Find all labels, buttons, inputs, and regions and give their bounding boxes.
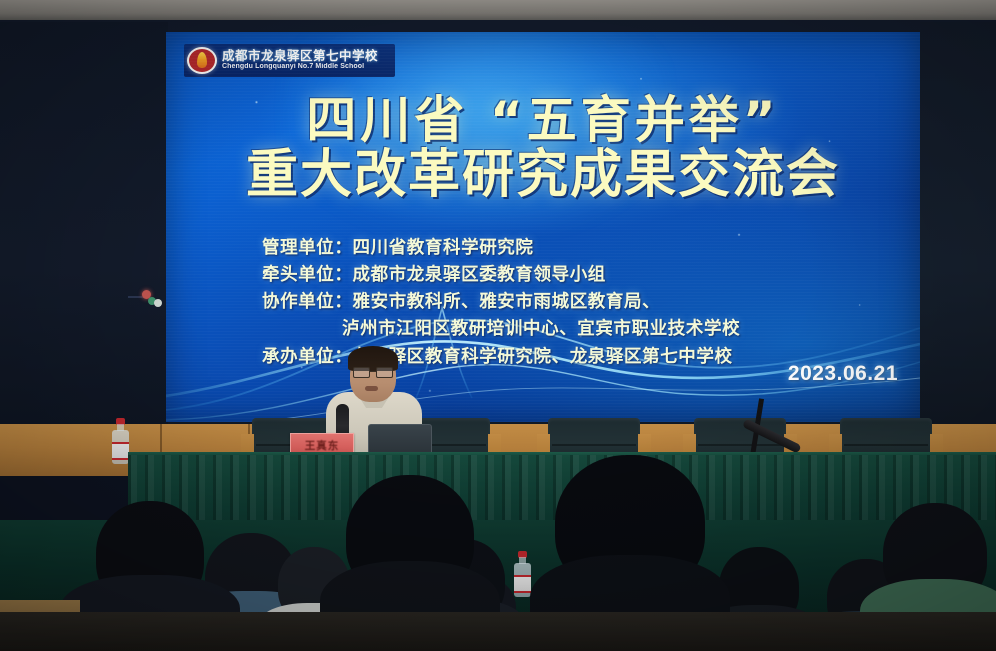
event-date: 2023.06.21 — [788, 362, 898, 386]
sconce-bulb-white — [154, 299, 162, 307]
school-name-english: Chengdu Longquanyi No.7 Middle School — [222, 63, 378, 70]
wall-panel-left — [0, 22, 168, 430]
emblem-flame — [197, 52, 207, 68]
organization-line: 管理单位：四川省教育科学研究院 — [262, 234, 920, 261]
speaker-glasses-icon — [353, 367, 393, 376]
foreground-desk — [0, 612, 996, 651]
organization-label: 协作单位： — [262, 291, 353, 311]
organization-line-continued: 泸州市江阳区教研培训中心、宜宾市职业技术学校 — [262, 315, 920, 342]
school-emblem-icon — [187, 47, 217, 74]
glasses-lens-right — [376, 367, 393, 378]
organization-line: 牵头单位：成都市龙泉驿区委教育领导小组 — [262, 261, 920, 288]
speaker-mouth — [365, 386, 378, 391]
wall-sconce-light — [128, 288, 164, 308]
chair-seam — [844, 444, 928, 446]
organization-value: 四川省教育科学研究院 — [353, 237, 534, 257]
organization-value: 泸州市江阳区教研培训中心、宜宾市职业技术学校 — [342, 318, 740, 338]
organization-line: 协作单位：雅安市教科所、雅安市雨城区教育局、 — [262, 288, 920, 315]
bottle-label — [514, 575, 531, 593]
organization-value: 成都市龙泉驿区委教育领导小组 — [353, 264, 606, 284]
school-logo-plaque: 成都市龙泉驿区第七中学校 Chengdu Longquanyi No.7 Mid… — [184, 44, 395, 77]
chair-seam — [552, 444, 636, 446]
conference-photo-scene: 成都市龙泉驿区第七中学校 Chengdu Longquanyi No.7 Mid… — [0, 0, 996, 651]
glasses-lens-left — [353, 367, 370, 378]
organization-label: 牵头单位： — [262, 264, 353, 284]
organization-value: 雅安市教科所、雅安市雨城区教育局、 — [353, 291, 661, 311]
school-logo-text: 成都市龙泉驿区第七中学校 Chengdu Longquanyi No.7 Mid… — [222, 50, 378, 70]
school-name-chinese: 成都市龙泉驿区第七中学校 — [222, 50, 378, 63]
name-placard-text: 王真东 — [305, 438, 340, 453]
led-display-screen: 成都市龙泉驿区第七中学校 Chengdu Longquanyi No.7 Mid… — [166, 32, 920, 422]
water-bottle — [514, 551, 531, 597]
wall-panel-right — [920, 22, 996, 430]
chair-seam — [698, 444, 782, 446]
screen-title-block: 四川省 “五育并举” 重大改革研究成果交流会 — [166, 94, 920, 204]
screen-title-line-1: 四川省 “五育并举” — [166, 94, 920, 147]
organization-label: 管理单位： — [262, 237, 353, 257]
screen-title-line-2: 重大改革研究成果交流会 — [166, 147, 920, 204]
